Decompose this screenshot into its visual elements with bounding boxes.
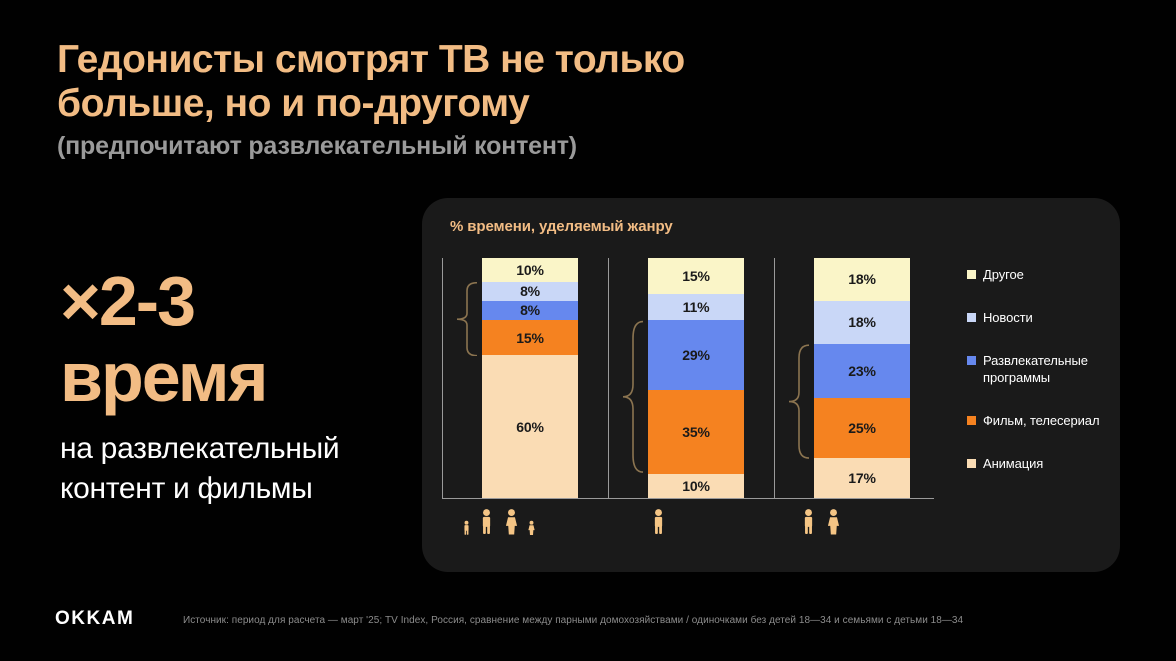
bar-segment[interactable]: 18%: [814, 258, 910, 301]
key-stat-block: ×2-3 время на развлекательный контент и …: [60, 265, 430, 509]
okkam-logo: OKKAM: [55, 608, 134, 630]
stat-multiplier: ×2-3: [60, 265, 430, 337]
legend-label: Другое: [983, 266, 1024, 283]
chart-title: % времени, уделяемый жанру: [450, 218, 673, 235]
column-axis-line: [442, 258, 443, 498]
bar-segment[interactable]: 10%: [482, 258, 578, 282]
page-title: Гедонисты смотрят ТВ не только больше, н…: [57, 38, 757, 162]
stacked-bar[interactable]: 18%18%23%25%17%: [814, 258, 910, 498]
bar-segment[interactable]: 25%: [814, 398, 910, 457]
bar-segment[interactable]: 17%: [814, 458, 910, 498]
bar-segment[interactable]: 23%: [814, 344, 910, 399]
headline-subtitle: (предпочитают развлекательный контент): [57, 130, 757, 162]
bar-segment[interactable]: 11%: [648, 294, 744, 320]
headline-line-2: больше, но и по-другому: [57, 82, 757, 126]
stat-caption-line-2: контент и фильмы: [60, 472, 313, 505]
stat-caption-line-1: на развлекательный: [60, 432, 339, 465]
family-icon: [460, 508, 538, 536]
headline-line-1: Гедонисты смотрят ТВ не только: [57, 38, 757, 82]
legend-label: Фильм, телесериал: [983, 412, 1099, 429]
legend-swatch-icon: [967, 313, 976, 322]
bar-segment[interactable]: 8%: [482, 301, 578, 320]
slide-root: { "headline": { "line1": "Гедонисты смот…: [0, 0, 1176, 661]
chart-card: % времени, уделяемый жанру 10%8%8%15%60%…: [422, 198, 1120, 572]
bar-segment[interactable]: 8%: [482, 282, 578, 301]
legend-swatch-icon: [967, 416, 976, 425]
column-axis-line: [608, 258, 609, 498]
couple-icon: [797, 508, 845, 536]
stacked-bar[interactable]: 15%11%29%35%10%: [648, 258, 744, 498]
column-axis-line: [774, 258, 775, 498]
legend-film[interactable]: Фильм, телесериал: [967, 412, 1147, 429]
legend-swatch-icon: [967, 459, 976, 468]
single-person-icon: [647, 508, 670, 536]
stacked-bar-chart: 10%8%8%15%60%15%11%29%35%10%18%18%23%25%…: [442, 258, 934, 498]
bar-segment[interactable]: 29%: [648, 320, 744, 390]
legend-label: Анимация: [983, 455, 1043, 472]
legend-animation[interactable]: Анимация: [967, 455, 1147, 472]
bar-segment[interactable]: 60%: [482, 355, 578, 498]
highlight-brace: [456, 282, 478, 356]
highlight-brace: [788, 344, 810, 459]
legend-news[interactable]: Новости: [967, 309, 1147, 326]
legend-swatch-icon: [967, 356, 976, 365]
bar-segment[interactable]: 10%: [648, 474, 744, 498]
bar-segment[interactable]: 15%: [482, 320, 578, 356]
legend-swatch-icon: [967, 270, 976, 279]
category-icons-row: [442, 508, 934, 558]
legend-label: Новости: [983, 309, 1033, 326]
bar-segment[interactable]: 35%: [648, 390, 744, 474]
stacked-bar[interactable]: 10%8%8%15%60%: [482, 258, 578, 498]
legend-label: Развлекательные программы: [983, 352, 1147, 386]
bar-segment[interactable]: 18%: [814, 301, 910, 344]
chart-baseline-axis: [442, 498, 934, 499]
legend-entertainment[interactable]: Развлекательные программы: [967, 352, 1147, 386]
chart-legend: ДругоеНовостиРазвлекательные программыФи…: [967, 266, 1147, 498]
highlight-brace: [622, 320, 644, 474]
stat-caption: на развлекательный контент и фильмы: [60, 429, 430, 509]
bar-segment[interactable]: 15%: [648, 258, 744, 294]
legend-other[interactable]: Другое: [967, 266, 1147, 283]
stat-unit: время: [60, 339, 430, 415]
source-note: Источник: период для расчета — март '25;…: [183, 614, 983, 627]
